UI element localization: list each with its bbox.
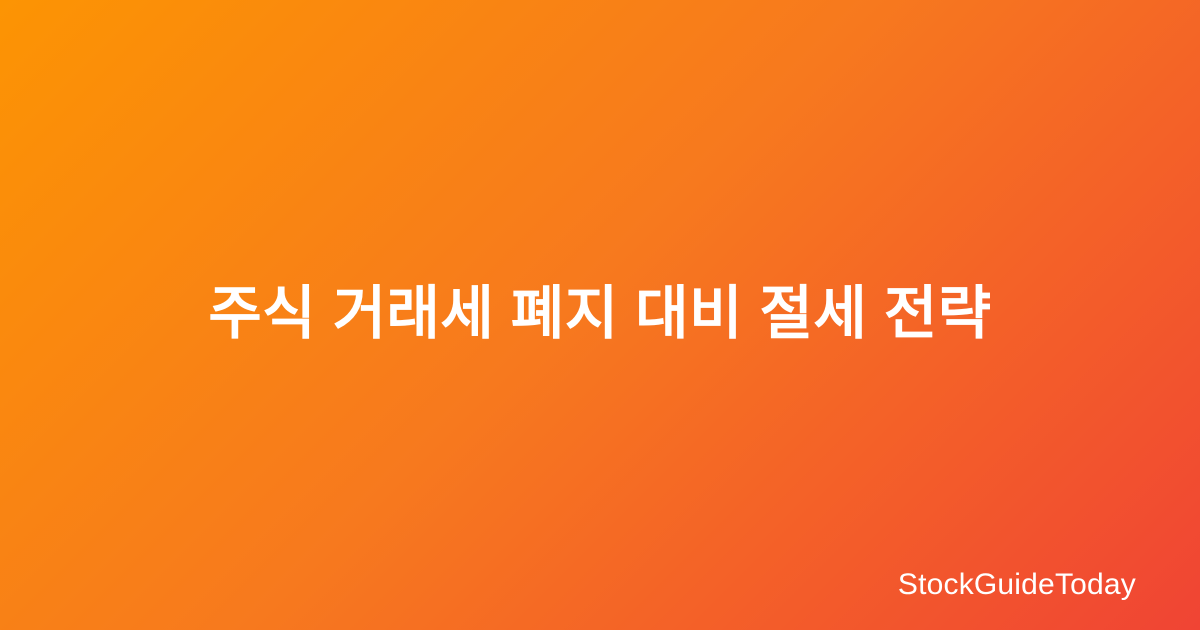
headline-block: 주식 거래세 폐지 대비 절세 전략 xyxy=(0,0,1200,630)
site-watermark: StockGuideToday xyxy=(898,570,1136,600)
card-title: 주식 거래세 폐지 대비 절세 전략 xyxy=(208,277,991,351)
social-share-card: 주식 거래세 폐지 대비 절세 전략 StockGuideToday xyxy=(0,0,1200,630)
